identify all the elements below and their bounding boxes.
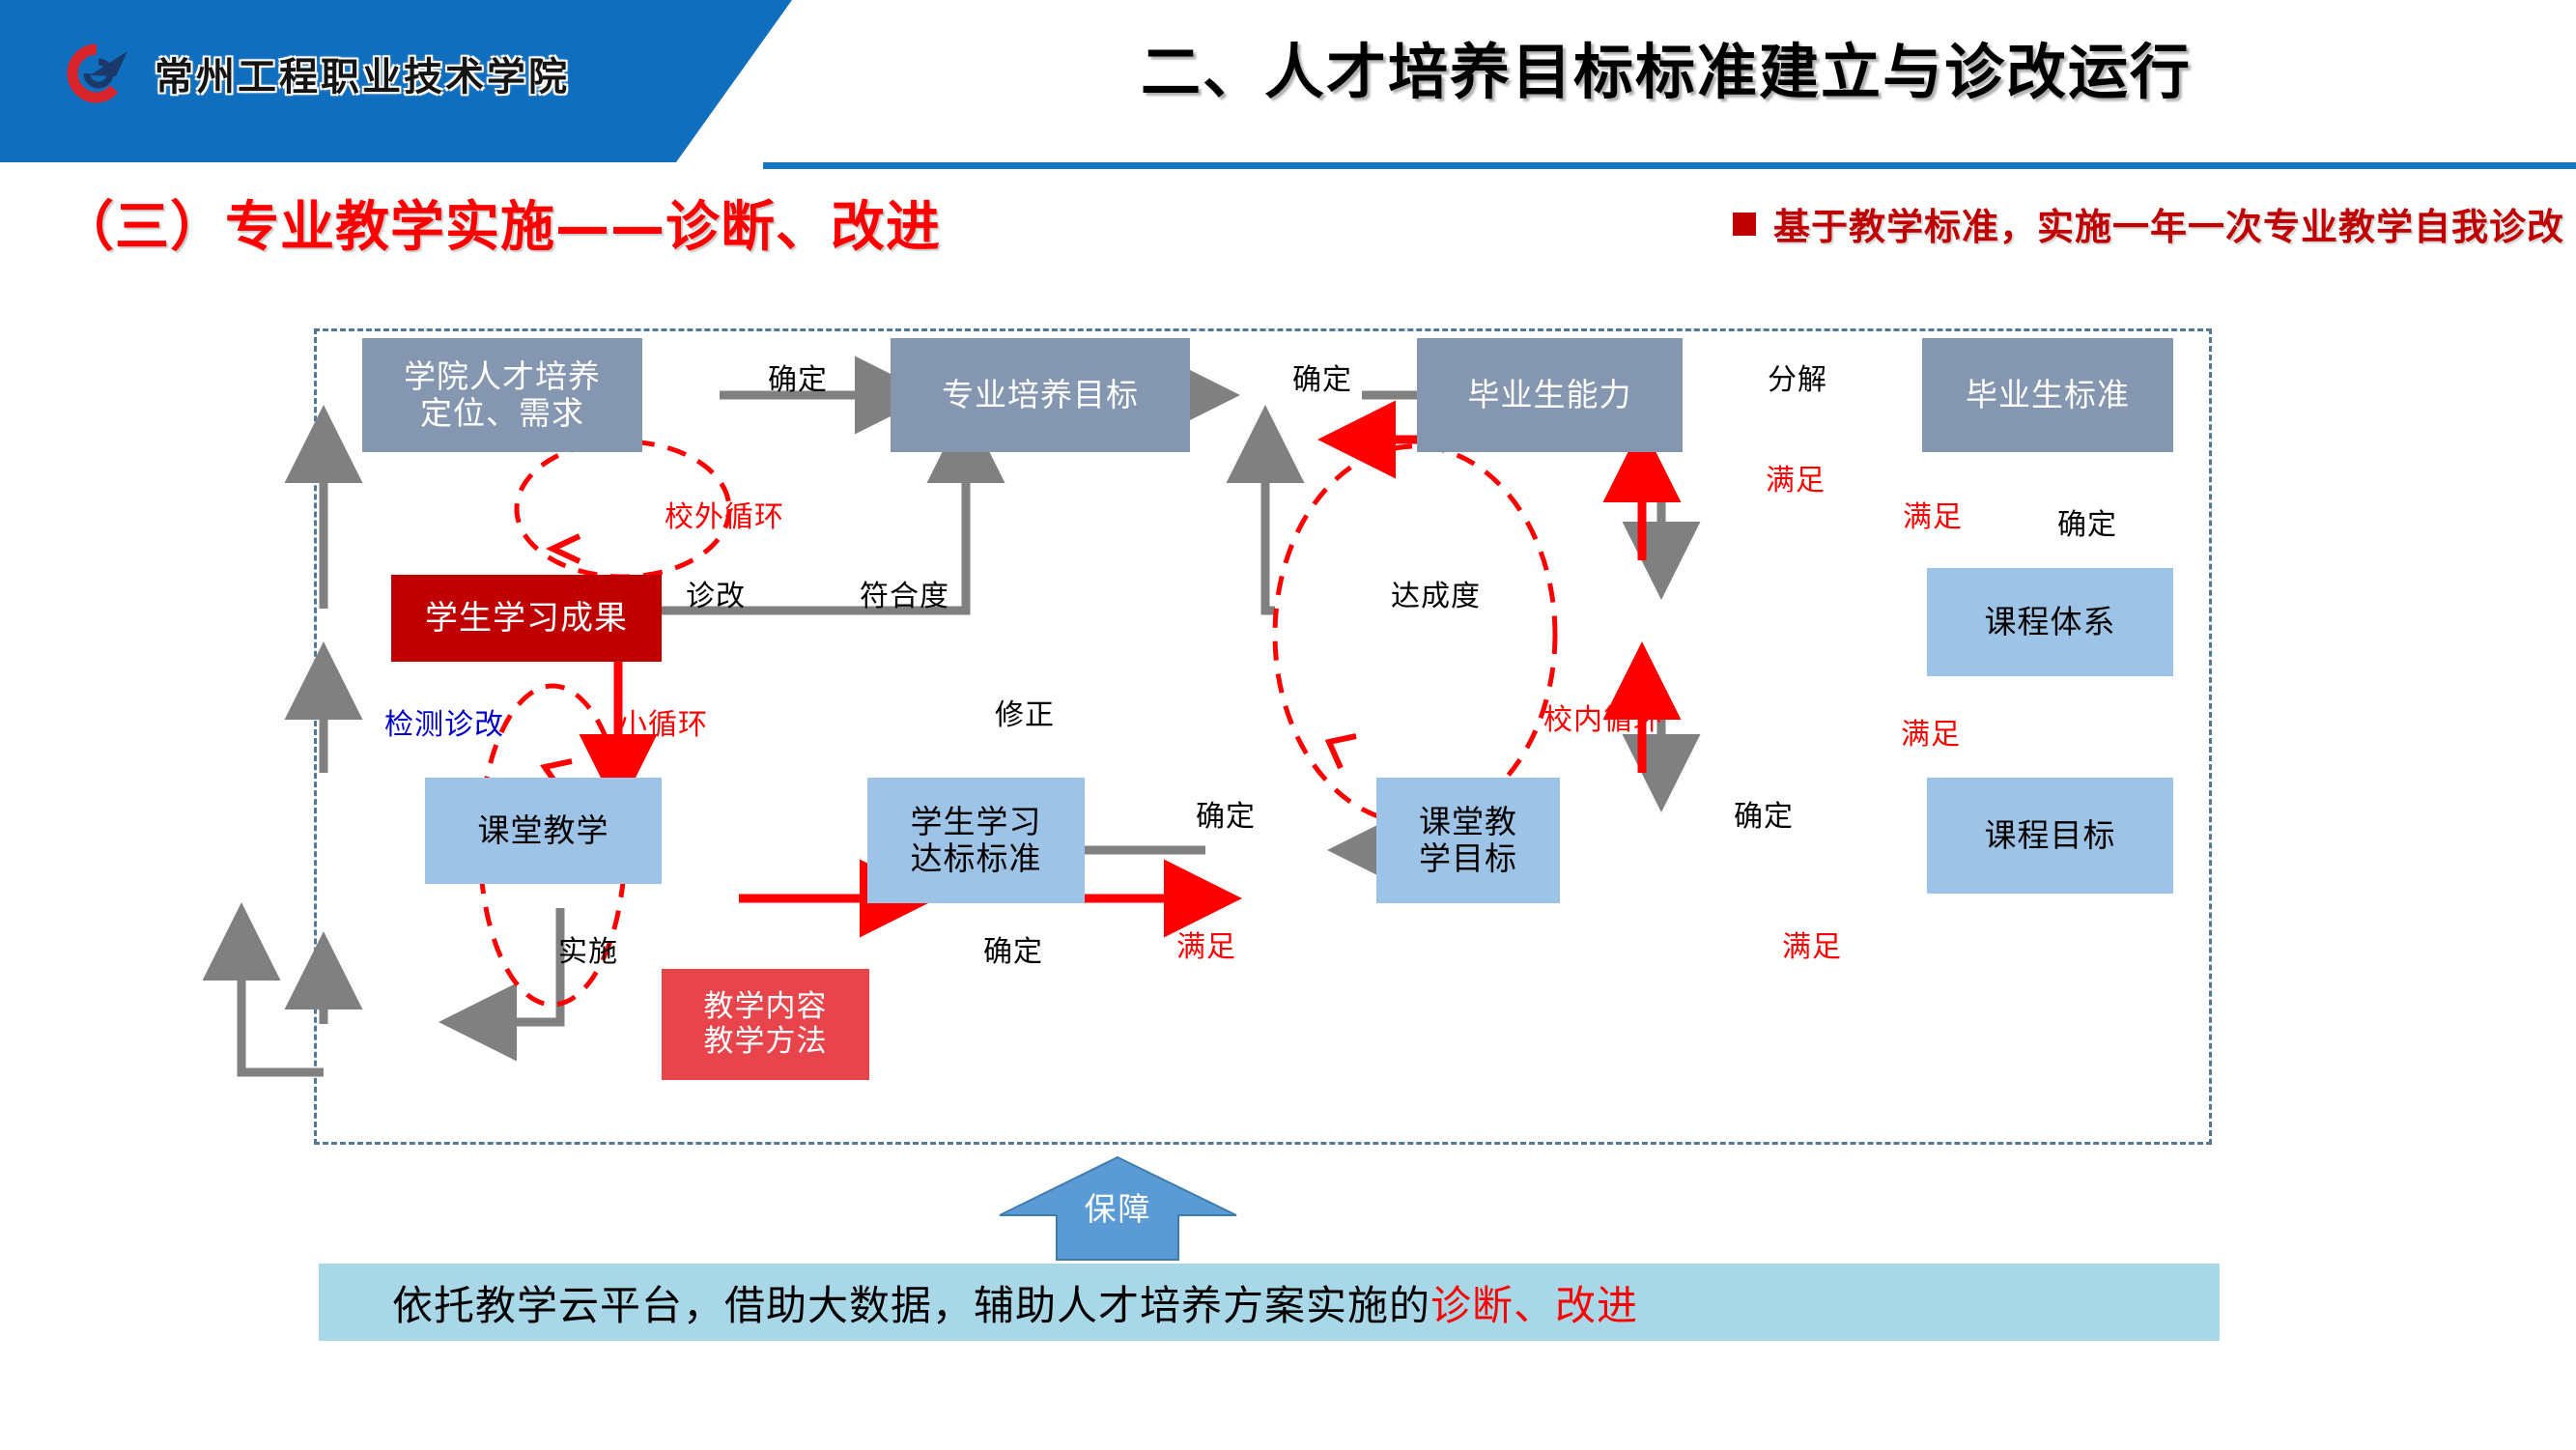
edge-label-satisfy-top: 满足 (1766, 456, 1826, 498)
node-graduate-standard: 毕业生标准 (1922, 338, 2173, 452)
node-label: 教学内容 教学方法 (704, 990, 828, 1059)
node-classroom-teaching: 课堂教学 (425, 778, 662, 884)
node-label: 专业培养目标 (942, 377, 1139, 413)
edge-label-determine-2: 确定 (1292, 355, 1352, 398)
footer-text-black: 依托教学云平台，借助大数据，辅助人才培养方案实施的 (392, 1282, 1430, 1329)
cycle-label-external: 校外循环 (665, 493, 784, 535)
node-course-goal: 课程目标 (1927, 778, 2173, 894)
node-institute-positioning: 学院人才培养 定位、需求 (362, 338, 642, 452)
edge-label-detect-diagnose: 检测诊改 (384, 700, 504, 743)
edge-label-implement: 实施 (558, 927, 618, 970)
edge-label-revise: 修正 (995, 691, 1055, 733)
node-student-standard: 学生学习 达标标准 (867, 778, 1085, 903)
footer-text: 依托教学云平台，借助大数据，辅助人才培养方案实施的诊断、改进 (319, 1273, 1638, 1332)
edge-label-satisfy-right-lower: 满足 (1901, 710, 1961, 753)
edge-label-satisfy-right-upper: 满足 (1903, 493, 1963, 535)
node-classroom-goal: 课堂教 学目标 (1376, 778, 1560, 903)
node-label: 课程目标 (1985, 817, 2116, 854)
edge-label-determine-right-upper: 确定 (2057, 500, 2117, 543)
node-learning-outcome: 学生学习成果 (391, 575, 662, 662)
node-label: 毕业生能力 (1468, 377, 1632, 413)
node-label: 课堂教 学目标 (1419, 804, 1517, 876)
cycle-label-small: 小循环 (618, 700, 708, 743)
node-label: 学院人才培养 定位、需求 (404, 358, 601, 431)
node-label: 学生学习成果 (425, 600, 628, 638)
node-label: 课程体系 (1985, 604, 2116, 640)
node-content-method: 教学内容 教学方法 (662, 969, 869, 1080)
edge-label-attainment: 达成度 (1391, 572, 1481, 614)
edge-label-diagnose: 诊改 (686, 572, 746, 614)
edge-label-determine-bottom: 确定 (983, 927, 1043, 970)
edge-label-determine-mid-right: 确定 (1734, 792, 1794, 835)
edge-label-conformity: 符合度 (860, 572, 949, 614)
node-label: 课堂教学 (478, 812, 609, 849)
node-major-goal: 专业培养目标 (891, 338, 1190, 452)
edge-label-determine-1: 确定 (768, 355, 828, 398)
node-label: 毕业生标准 (1966, 377, 2130, 413)
edge-label-satisfy-mid: 满足 (1782, 923, 1842, 965)
footer-text-highlight: 诊断、改进 (1430, 1282, 1638, 1329)
edge-label-satisfy-left: 满足 (1176, 923, 1236, 965)
edge-label-determine-mid-left: 确定 (1196, 792, 1256, 835)
guarantee-label: 保障 (995, 1183, 1241, 1230)
edge-label-decompose: 分解 (1768, 355, 1827, 398)
node-course-system: 课程体系 (1927, 568, 2173, 676)
node-graduate-ability: 毕业生能力 (1417, 338, 1683, 452)
cycle-label-internal: 校内循环 (1543, 696, 1663, 738)
diagram-canvas: 学院人才培养 定位、需求 专业培养目标 毕业生能力 毕业生标准 学生学习成果 课… (0, 0, 2576, 1450)
node-label: 学生学习 达标标准 (911, 804, 1042, 876)
footer-banner: 依托教学云平台，借助大数据，辅助人才培养方案实施的诊断、改进 (319, 1264, 2220, 1341)
